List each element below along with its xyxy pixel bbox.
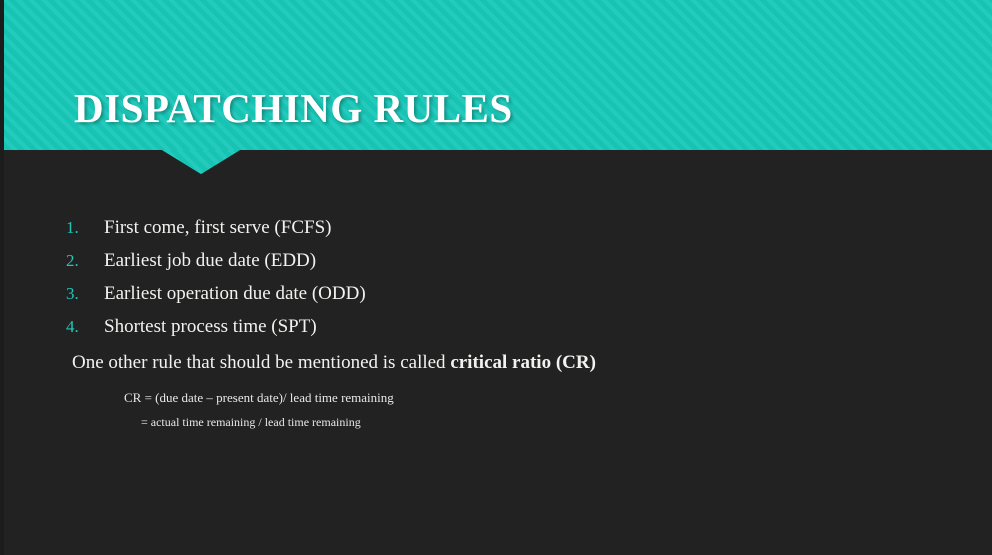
list-item-number: 1. (66, 219, 104, 236)
list-item: 1. First come, first serve (FCFS) (66, 218, 826, 251)
critical-ratio-note: One other rule that should be mentioned … (72, 352, 596, 374)
list-item-label: Earliest operation due date (ODD) (104, 284, 366, 303)
list-item-label: Shortest process time (SPT) (104, 317, 317, 336)
slide: DISPATCHING RULES 1. First come, first s… (0, 0, 992, 555)
list-item: 3. Earliest operation due date (ODD) (66, 284, 826, 317)
critical-ratio-formula-line-1: CR = (due date – present date)/ lead tim… (124, 390, 394, 406)
list-item-number: 4. (66, 318, 104, 335)
page-title: DISPATCHING RULES (74, 84, 513, 132)
list-item: 2. Earliest job due date (EDD) (66, 251, 826, 284)
list-item-label: First come, first serve (FCFS) (104, 218, 331, 237)
dispatching-rules-list: 1. First come, first serve (FCFS) 2. Ear… (66, 218, 826, 350)
critical-ratio-note-emphasis: critical ratio (CR) (450, 352, 596, 373)
list-item-number: 3. (66, 285, 104, 302)
list-item-number: 2. (66, 252, 104, 269)
slide-content: 1. First come, first serve (FCFS) 2. Ear… (0, 150, 992, 555)
list-item-label: Earliest job due date (EDD) (104, 251, 316, 270)
slide-left-edge (0, 0, 4, 555)
critical-ratio-note-lead: One other rule that should be mentioned … (72, 352, 450, 373)
list-item: 4. Shortest process time (SPT) (66, 317, 826, 350)
critical-ratio-formula-line-2: = actual time remaining / lead time rema… (141, 415, 361, 430)
